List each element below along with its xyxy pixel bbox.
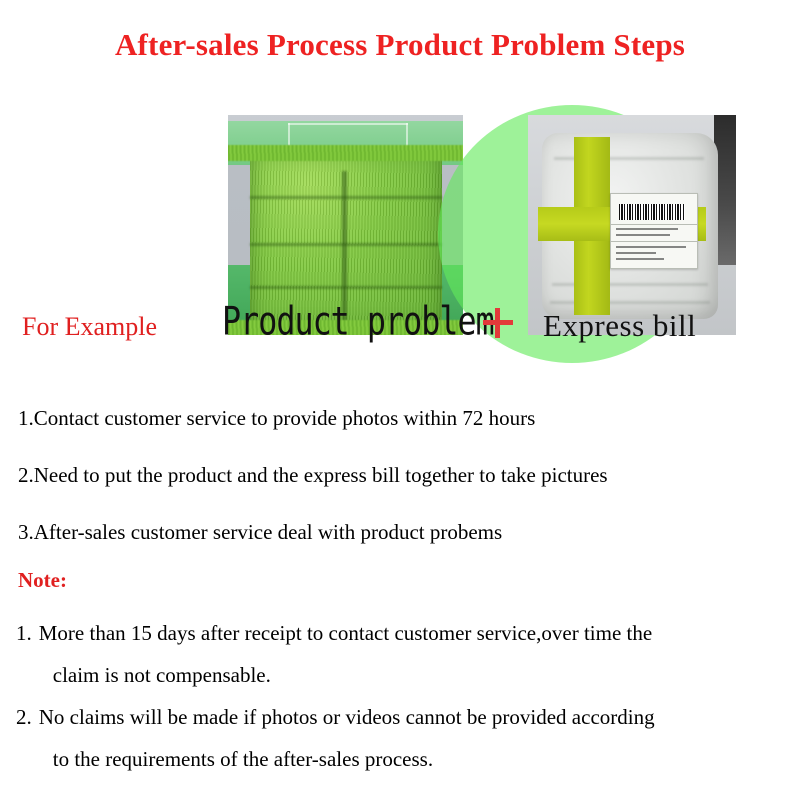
barcode-icon [619,204,685,220]
label-divider-2 [611,241,697,242]
plus-icon-vertical-bar [495,308,500,338]
note-item-number: 1. [16,612,39,654]
product-problem-caption: Product problem [222,298,494,344]
label-text-line-2 [616,234,670,236]
note-item-line-2: to the requirements of the after-sales p… [39,738,792,780]
box-edge-line-1 [288,123,408,125]
page-title: After-sales Process Product Problem Step… [0,27,800,63]
plus-icon [481,300,515,346]
label-divider-1 [611,224,697,225]
fur-edge-top [228,145,463,161]
label-text-line-5 [616,258,664,260]
example-row: For Example Product problem [0,100,800,355]
note-heading: Note: [18,568,67,593]
note-item-line-1: More than 15 days after receipt to conta… [39,621,652,645]
label-text-line-3 [616,246,686,248]
express-bill-photo [528,115,736,335]
label-text-line-1 [616,228,678,230]
for-example-label: For Example [22,312,157,342]
note-item-text: More than 15 days after receipt to conta… [39,612,792,696]
step-item: 3.After-sales customer service deal with… [18,504,782,561]
note-item-number: 2. [16,696,39,738]
express-bill-caption: Express bill [543,308,696,344]
step-item: 1.Contact customer service to provide ph… [18,390,782,447]
note-item-text: No claims will be made if photos or vide… [39,696,792,780]
label-text-line-4 [616,252,656,254]
note-item-line-1: No claims will be made if photos or vide… [39,705,655,729]
note-list: 1. More than 15 days after receipt to co… [16,612,792,780]
shipping-label [610,193,698,269]
steps-list: 1.Contact customer service to provide ph… [18,390,782,561]
parcel-photo-inner [528,115,736,335]
note-item-line-2: claim is not compensable. [39,654,792,696]
step-item: 2.Need to put the product and the expres… [18,447,782,504]
note-item: 2. No claims will be made if photos or v… [16,696,792,780]
note-item: 1. More than 15 days after receipt to co… [16,612,792,696]
